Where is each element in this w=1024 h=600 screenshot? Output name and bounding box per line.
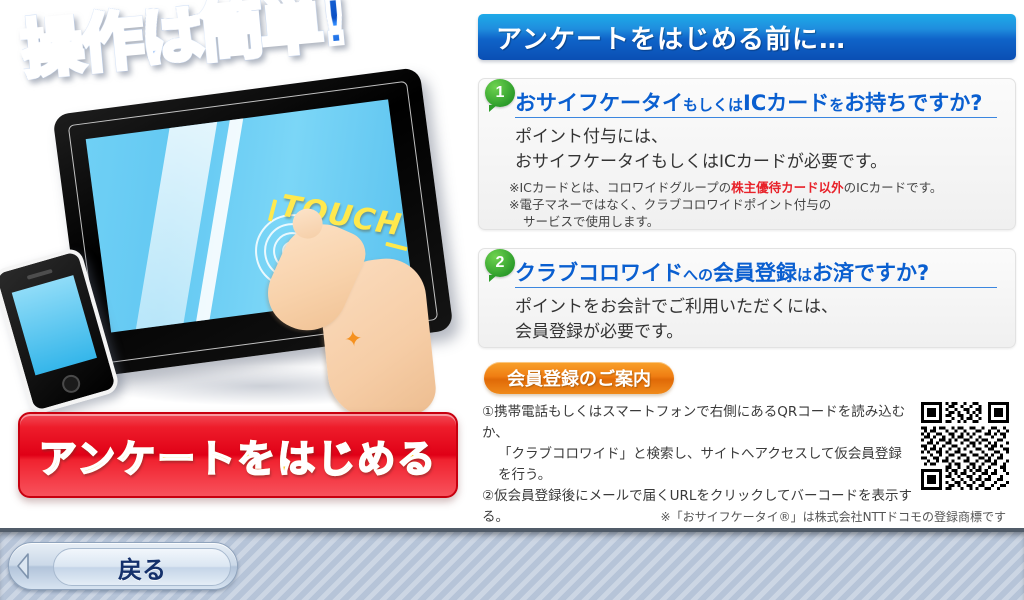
- footer-bar: 戻る: [0, 528, 1024, 600]
- back-button-inner: 戻る: [53, 548, 231, 586]
- start-survey-button[interactable]: アンケートをはじめる: [18, 412, 458, 498]
- info-card-2-body-line1: ポイントをお会計でご利用いただくには、: [515, 295, 1003, 320]
- title2-part-d: は: [797, 266, 812, 284]
- info-card-1-notes: ※ICカードとは、コロワイドグループの株主優待カード以外のICカードです。 ※電…: [509, 179, 1005, 230]
- app-screen: 操作は簡単! TOUCH: [0, 0, 1024, 600]
- info-card-1-body-line2: おサイフケータイもしくはICカードが必要です。: [515, 150, 1003, 175]
- info-card-2: 2 クラブコロワイドへの会員登録はお済ですか? ポイントをお会計でご利用いただく…: [478, 248, 1016, 348]
- arrow-left-icon: [15, 551, 49, 581]
- info-card-1-body-line1: ポイント付与には、: [515, 125, 1003, 150]
- info-card-1-body: ポイント付与には、 おサイフケータイもしくはICカードが必要です。: [515, 125, 1003, 175]
- title2-part-a: クラブコロワイド: [515, 261, 683, 285]
- step-badge-1: 1: [485, 79, 515, 107]
- right-panel-header: アンケートをはじめる前に…: [478, 14, 1016, 60]
- tablet-illustration: TOUCH ✦: [40, 70, 470, 400]
- hand-pointing-icon: ✦: [270, 211, 440, 426]
- info-card-1-title: おサイフケータイもしくはICカードをお持ちですか?: [515, 87, 1003, 117]
- back-button[interactable]: 戻る: [8, 542, 238, 590]
- step-badge-2-number: 2: [496, 254, 505, 272]
- back-button-label: 戻る: [118, 550, 166, 585]
- note-1-highlight: 株主優待カード以外: [731, 180, 844, 195]
- right-panel-header-title: アンケートをはじめる前に…: [478, 19, 846, 56]
- info-card-2-body: ポイントをお会計でご利用いただくには、 会員登録が必要です。: [515, 295, 1003, 345]
- left-panel: 操作は簡単! TOUCH: [0, 0, 470, 528]
- trademark-note: ※「おサイフケータイ®」は株式会社NTTドコモの登録商標です: [470, 508, 1016, 525]
- start-survey-label: アンケートをはじめる: [39, 428, 437, 483]
- phone-speaker: [27, 269, 53, 280]
- title2-part-b: への: [683, 266, 713, 284]
- title-part-c: ICカード: [743, 91, 829, 115]
- info-card-2-title: クラブコロワイドへの会員登録はお済ですか?: [515, 257, 1003, 287]
- title-part-e: お持ちですか?: [844, 91, 982, 115]
- note-1-post: のICカードです。: [844, 180, 943, 195]
- title2-part-c: 会員登録: [713, 261, 797, 285]
- step-badge-2: 2: [485, 249, 515, 277]
- info-card-2-rule: [515, 287, 997, 288]
- title-part-d: を: [829, 96, 844, 114]
- note-line-1: ※ICカードとは、コロワイドグループの株主優待カード以外のICカードです。: [509, 179, 1005, 196]
- info-card-2-body-line2: 会員登録が必要です。: [515, 320, 1003, 345]
- phone-screen: [12, 275, 97, 375]
- signup-guide-badge: 会員登録のご案内: [484, 362, 674, 394]
- phone-home-button: [60, 373, 82, 395]
- title2-part-e: お済ですか?: [812, 261, 929, 285]
- info-card-1-rule: [515, 117, 997, 118]
- step-badge-1-number: 1: [496, 84, 505, 102]
- note-line-3: サービスで使用します。: [509, 213, 659, 230]
- signup-guide-label: 会員登録のご案内: [507, 365, 651, 391]
- info-card-1: 1 おサイフケータイもしくはICカードをお持ちですか? ポイント付与には、 おサ…: [478, 78, 1016, 230]
- qr-code: [921, 402, 1009, 490]
- note-1-pre: ※ICカードとは、コロワイドグループの: [509, 180, 731, 195]
- signup-step-1-cont: 「クラブコロワイド」と検索し、サイトへアクセスして仮会員登録を行う。: [482, 444, 914, 486]
- note-line-2: ※電子マネーではなく、クラブコロワイドポイント付与の: [509, 196, 1005, 213]
- title-part-a: おサイフケータイ: [515, 91, 683, 115]
- title-part-b: もしくは: [683, 96, 743, 114]
- signup-step-1: ①携帯電話もしくはスマートフォンで右側にあるQRコードを読み込むか、: [482, 402, 914, 444]
